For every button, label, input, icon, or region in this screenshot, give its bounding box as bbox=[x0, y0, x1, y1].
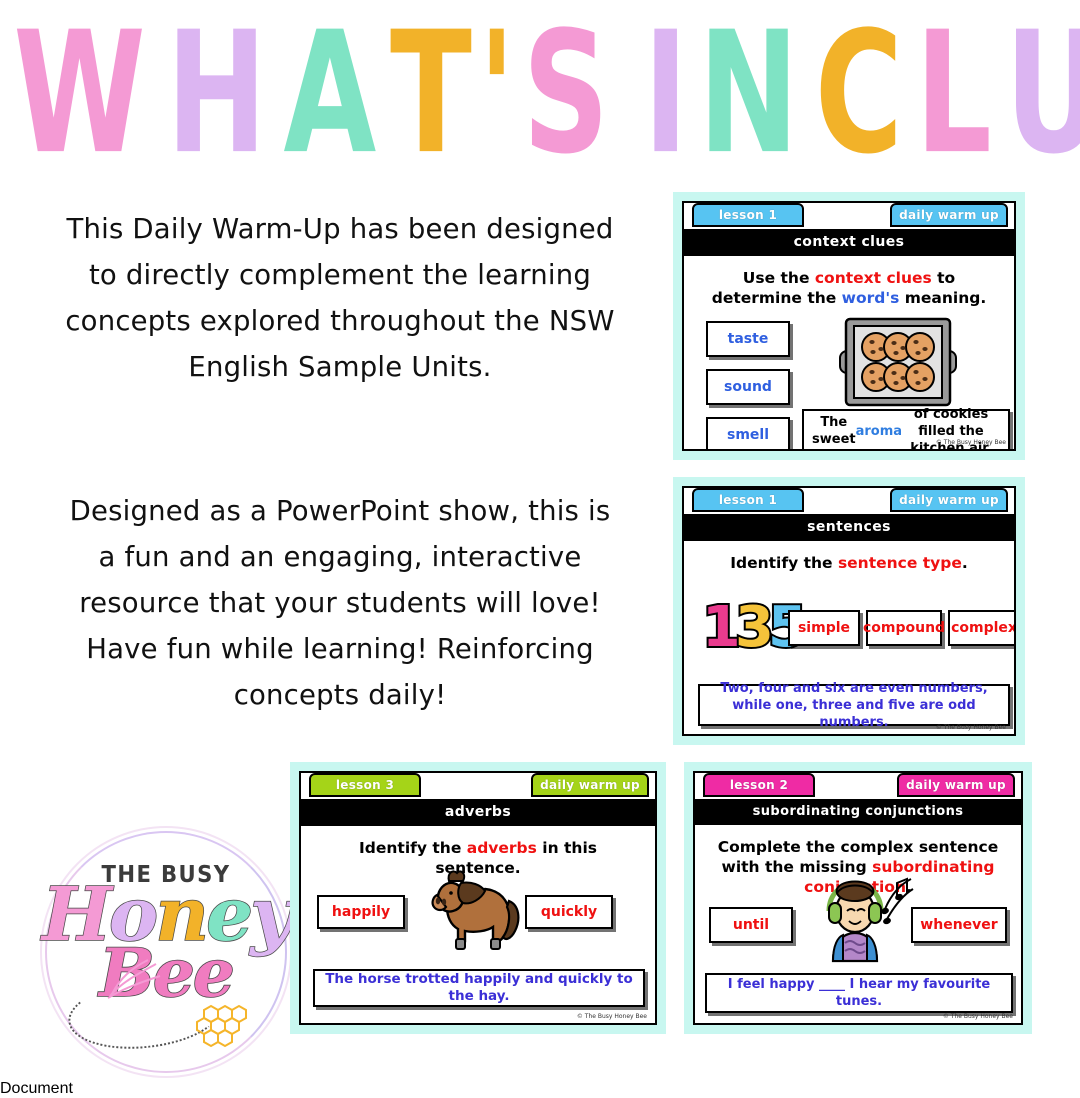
lesson-tab[interactable]: lesson 3 bbox=[309, 773, 421, 797]
slide-tabbar: lesson 1 daily warm up bbox=[684, 203, 1014, 229]
title-letter: ' bbox=[479, 10, 514, 178]
daily-warm-up-tab[interactable]: daily warm up bbox=[890, 488, 1008, 512]
answer-sentence: Two, four and six are even numbers, whil… bbox=[698, 684, 1010, 726]
title-letter: W bbox=[13, 10, 144, 178]
title-letter: H bbox=[167, 10, 266, 178]
slide-inner: lesson 1 daily warm up sentences Identif… bbox=[682, 486, 1016, 736]
title-letter: A bbox=[283, 10, 374, 178]
answer-fragment: aroma bbox=[856, 423, 902, 440]
copyright-note: © The Busy Honey Bee bbox=[577, 1013, 647, 1020]
option-happily[interactable]: happily bbox=[317, 895, 405, 929]
answer-fragment: The sweet bbox=[812, 414, 856, 448]
option-compound[interactable]: compound bbox=[866, 610, 942, 646]
slide-prompt: Use the context clues to determine the w… bbox=[684, 256, 1014, 308]
answer-sentence: I feel happy ____ I hear my favourite tu… bbox=[705, 973, 1013, 1013]
slide-card-context-clues[interactable]: lesson 1 daily warm up context clues Use… bbox=[673, 192, 1025, 460]
intro-paragraph-2: Designed as a PowerPoint show, this is a… bbox=[60, 488, 620, 718]
option-taste[interactable]: taste bbox=[706, 321, 790, 357]
slide-tabbar: lesson 1 daily warm up bbox=[684, 488, 1014, 514]
title-letter: T bbox=[390, 10, 470, 178]
lesson-tab[interactable]: lesson 1 bbox=[692, 488, 804, 512]
prompt-fragment: word's bbox=[842, 289, 900, 307]
slide-card-sentences[interactable]: lesson 1 daily warm up sentences Identif… bbox=[673, 477, 1025, 745]
slide-inner: lesson 2 daily warm up subordinating con… bbox=[693, 771, 1023, 1025]
option-smell[interactable]: smell bbox=[706, 417, 790, 451]
answer-sentence: The horse trotted happily and quickly to… bbox=[313, 969, 645, 1007]
option-quickly[interactable]: quickly bbox=[525, 895, 613, 929]
copyright-note: © The Busy Honey Bee bbox=[936, 439, 1006, 446]
prompt-fragment: . bbox=[962, 554, 968, 572]
prompt-fragment: context clues bbox=[815, 269, 932, 287]
slide-inner: lesson 3 daily warm up adverbs Identify … bbox=[299, 771, 657, 1025]
title-letter: C bbox=[815, 10, 901, 178]
daily-warm-up-tab[interactable]: daily warm up bbox=[897, 773, 1015, 797]
slide-tabbar: lesson 2 daily warm up bbox=[695, 773, 1021, 799]
prompt-fragment: Use the bbox=[743, 269, 815, 287]
prompt-fragment: Identify the bbox=[730, 554, 838, 572]
option-until[interactable]: until bbox=[709, 907, 793, 943]
number-art-135: 135 bbox=[702, 600, 801, 656]
daily-warm-up-tab[interactable]: daily warm up bbox=[531, 773, 649, 797]
honeycomb-icon bbox=[194, 1004, 258, 1050]
lesson-tab[interactable]: lesson 2 bbox=[703, 773, 815, 797]
slide-prompt: Identify the sentence type. bbox=[684, 541, 1014, 573]
brand-logo: THE BUSY Honey Bee bbox=[42, 828, 290, 1076]
page-title: WHAT'SINCLUDED bbox=[0, 28, 1080, 178]
slide-title: subordinating conjunctions bbox=[695, 799, 1021, 825]
title-letter: I bbox=[644, 10, 687, 178]
title-letter: S bbox=[523, 10, 608, 178]
slide-title: sentences bbox=[684, 514, 1014, 541]
title-letter: U bbox=[1005, 10, 1080, 178]
slide-inner: lesson 1 daily warm up context clues Use… bbox=[682, 201, 1016, 451]
option-complex[interactable]: complex bbox=[948, 610, 1016, 646]
slide-card-adverbs[interactable]: lesson 3 daily warm up adverbs Identify … bbox=[290, 762, 666, 1034]
horse-icon bbox=[427, 855, 523, 955]
slide-canvas: WHAT'SINCLUDED This Daily Warm-Up has be… bbox=[0, 0, 1080, 1080]
title-letter: N bbox=[699, 10, 798, 178]
option-whenever[interactable]: whenever bbox=[911, 907, 1007, 943]
daily-warm-up-tab[interactable]: daily warm up bbox=[890, 203, 1008, 227]
lesson-tab[interactable]: lesson 1 bbox=[692, 203, 804, 227]
slide-title: context clues bbox=[684, 229, 1014, 256]
leaf-swirl-icon bbox=[104, 956, 164, 1000]
slide-title: adverbs bbox=[301, 799, 655, 826]
copyright-note: © The Busy Honey Bee bbox=[943, 1013, 1013, 1020]
option-sound[interactable]: sound bbox=[706, 369, 790, 405]
cookie-tray-icon bbox=[832, 313, 964, 411]
option-simple[interactable]: simple bbox=[788, 610, 860, 646]
slide-tabbar: lesson 3 daily warm up bbox=[301, 773, 655, 799]
number-glyph: 3 bbox=[735, 595, 768, 660]
title-letter: L bbox=[915, 10, 990, 178]
slide-card-subordinating-conjunctions[interactable]: lesson 2 daily warm up subordinating con… bbox=[684, 762, 1032, 1034]
prompt-fragment: meaning. bbox=[899, 289, 986, 307]
copyright-note: © The Busy Honey Bee bbox=[936, 724, 1006, 731]
prompt-fragment: sentence type bbox=[838, 554, 962, 572]
number-glyph: 1 bbox=[702, 595, 735, 660]
intro-paragraph-1: This Daily Warm-Up has been designed to … bbox=[60, 206, 620, 390]
child-headphones-icon bbox=[807, 869, 917, 965]
